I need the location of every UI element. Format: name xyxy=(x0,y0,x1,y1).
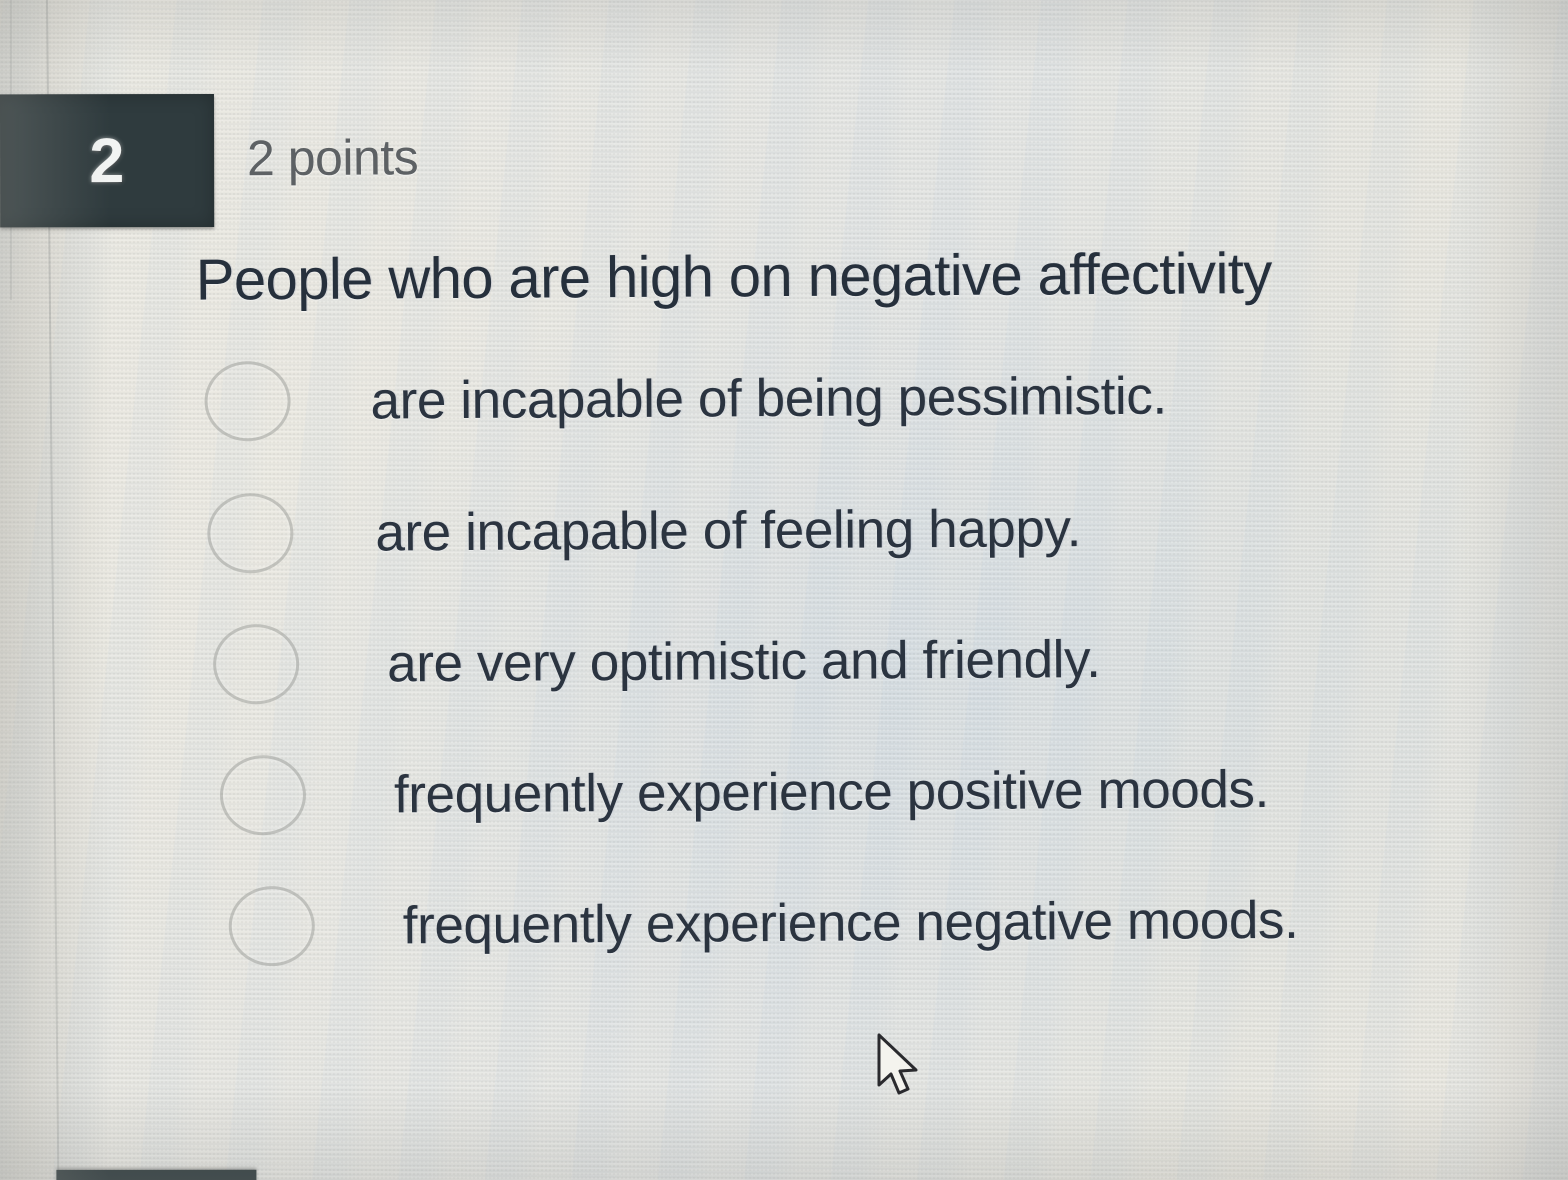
radio-button-icon[interactable] xyxy=(204,361,290,442)
next-question-number-badge xyxy=(56,1170,256,1180)
answer-option-label[interactable]: are incapable of being pessimistic. xyxy=(370,365,1167,431)
answer-option-label[interactable]: are incapable of feeling happy. xyxy=(375,498,1081,563)
answer-option-label[interactable]: frequently experience negative moods. xyxy=(403,889,1299,955)
answer-option-4[interactable]: frequently experience positive moods. xyxy=(220,749,1269,835)
answer-option-label[interactable]: frequently experience positive moods. xyxy=(394,759,1269,825)
radio-button-icon[interactable] xyxy=(220,755,306,836)
question-points-label: 2 points xyxy=(247,128,418,187)
answer-option-1[interactable]: are incapable of being pessimistic. xyxy=(204,356,1167,442)
radio-button-icon[interactable] xyxy=(229,886,315,967)
radio-button-icon[interactable] xyxy=(213,624,299,705)
question-number-badge: 2 xyxy=(0,94,214,227)
question-stem: People who are high on negative affectiv… xyxy=(196,240,1272,314)
question-content: 2 2 points People who are high on negati… xyxy=(0,0,1568,1180)
answer-option-3[interactable]: are very optimistic and friendly. xyxy=(213,619,1101,704)
answer-option-5[interactable]: frequently experience negative moods. xyxy=(229,880,1299,967)
answer-option-label[interactable]: are very optimistic and friendly. xyxy=(387,629,1101,694)
question-number-label: 2 xyxy=(89,125,125,197)
radio-button-icon[interactable] xyxy=(207,493,293,574)
answer-option-2[interactable]: are incapable of feeling happy. xyxy=(207,488,1081,573)
quiz-question-screenshot: 2 2 points People who are high on negati… xyxy=(0,0,1568,1180)
answer-options-list: are incapable of being pessimistic. are … xyxy=(0,345,1567,355)
